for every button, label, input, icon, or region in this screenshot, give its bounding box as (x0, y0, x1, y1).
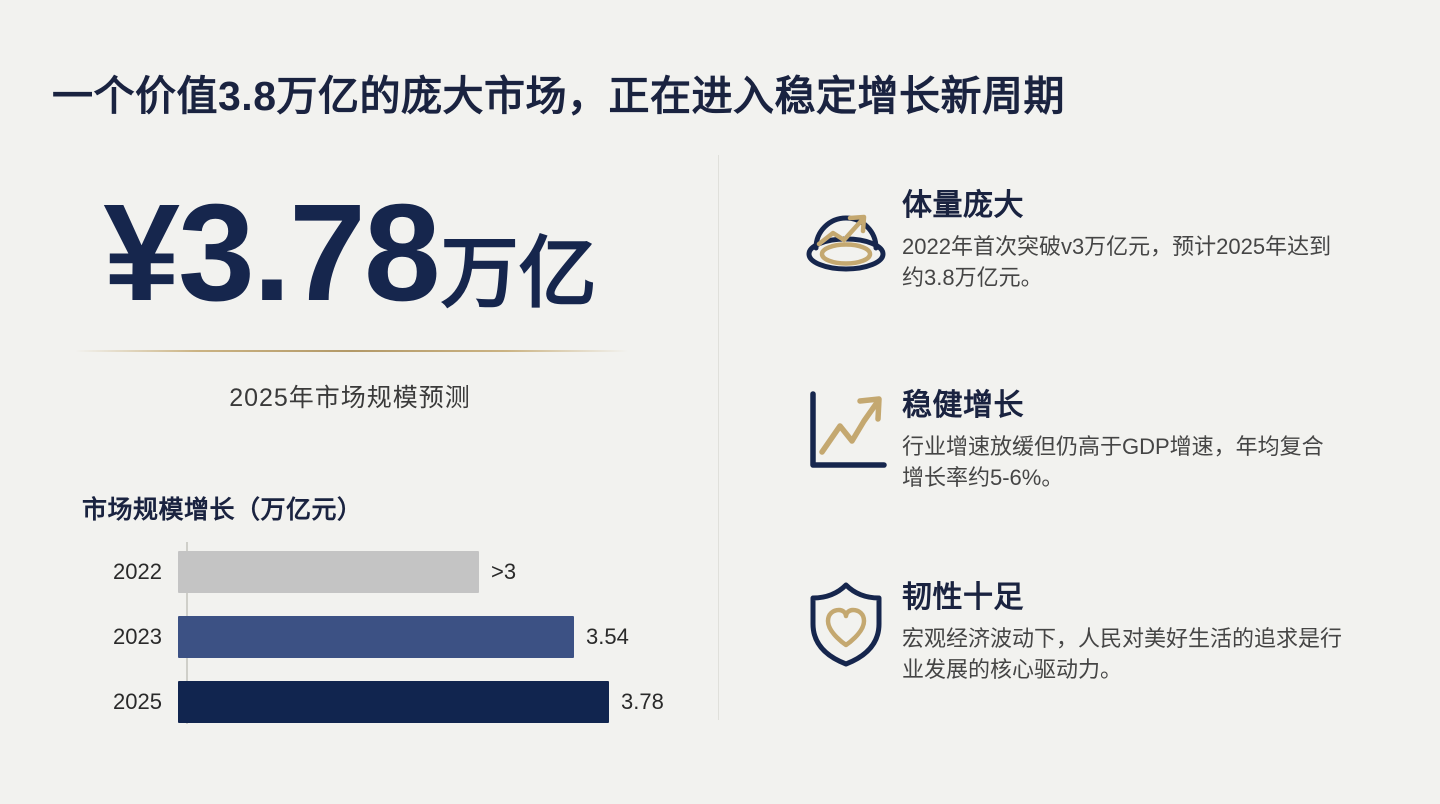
feature-heading: 体量庞大 (902, 180, 1410, 224)
bar-2022 (178, 551, 479, 593)
chart-bar-row: 2023 3.54 (82, 616, 682, 658)
feature-description: 宏观经济波动下，人民对美好生活的追求是行业发展的核心驱动力。 (902, 623, 1342, 685)
hero-amount-value: ¥3.78 (103, 176, 438, 330)
feature-description: 2022年首次突破v3万亿元，预计2025年达到约3.8万亿元。 (902, 231, 1342, 293)
market-size-bar-chart: 2022 >3 2023 3.54 2025 3.78 (82, 540, 682, 740)
hero-caption: 2025年市场规模预测 (0, 378, 700, 414)
chart-bar-row: 2022 >3 (82, 551, 682, 593)
shield-heart-icon (790, 572, 902, 670)
chart-title: 市场规模增长（万亿元） (82, 490, 363, 526)
bar-category-label: 2022 (82, 559, 178, 585)
column-divider (718, 155, 719, 720)
left-panel: ¥3.78万亿 2025年市场规模预测 市场规模增长（万亿元） 2022 >3 … (0, 150, 700, 770)
bar-category-label: 2025 (82, 689, 178, 715)
feature-heading: 稳健增长 (902, 380, 1410, 424)
bar-track: >3 (178, 551, 682, 593)
feature-item-resilience: 韧性十足 宏观经济波动下，人民对美好生活的追求是行业发展的核心驱动力。 (790, 572, 1410, 685)
chart-bar-row: 2025 3.78 (82, 681, 682, 723)
bar-2025 (178, 681, 609, 723)
hero-amount-unit: 万亿 (441, 229, 597, 317)
bar-category-label: 2023 (82, 624, 178, 650)
bar-value-label: 3.54 (586, 624, 629, 650)
feature-body: 稳健增长 行业增速放缓但仍高于GDP增速，年均复合增长率约5-6%。 (902, 380, 1410, 493)
bar-track: 3.78 (178, 681, 682, 723)
bar-value-label: 3.78 (621, 689, 664, 715)
feature-body: 韧性十足 宏观经济波动下，人民对美好生活的追求是行业发展的核心驱动力。 (902, 572, 1410, 685)
growth-chart-icon (790, 380, 902, 478)
gold-divider (75, 350, 628, 352)
feature-item-growth: 稳健增长 行业增速放缓但仍高于GDP增速，年均复合增长率约5-6%。 (790, 380, 1410, 493)
hero-metric: ¥3.78万亿 (0, 180, 700, 326)
bar-value-label: >3 (491, 559, 516, 585)
feature-item-scale: 体量庞大 2022年首次突破v3万亿元，预计2025年达到约3.8万亿元。 (790, 180, 1410, 293)
bar-2023 (178, 616, 574, 658)
bar-track: 3.54 (178, 616, 682, 658)
feature-description: 行业增速放缓但仍高于GDP增速，年均复合增长率约5-6%。 (902, 431, 1342, 493)
dome-growth-icon (790, 180, 902, 278)
feature-body: 体量庞大 2022年首次突破v3万亿元，预计2025年达到约3.8万亿元。 (902, 180, 1410, 293)
page-title: 一个价值3.8万亿的庞大市场，正在进入稳定增长新周期 (52, 62, 1065, 122)
hero-amount: ¥3.78万亿 (0, 180, 700, 326)
feature-heading: 韧性十足 (902, 572, 1410, 616)
